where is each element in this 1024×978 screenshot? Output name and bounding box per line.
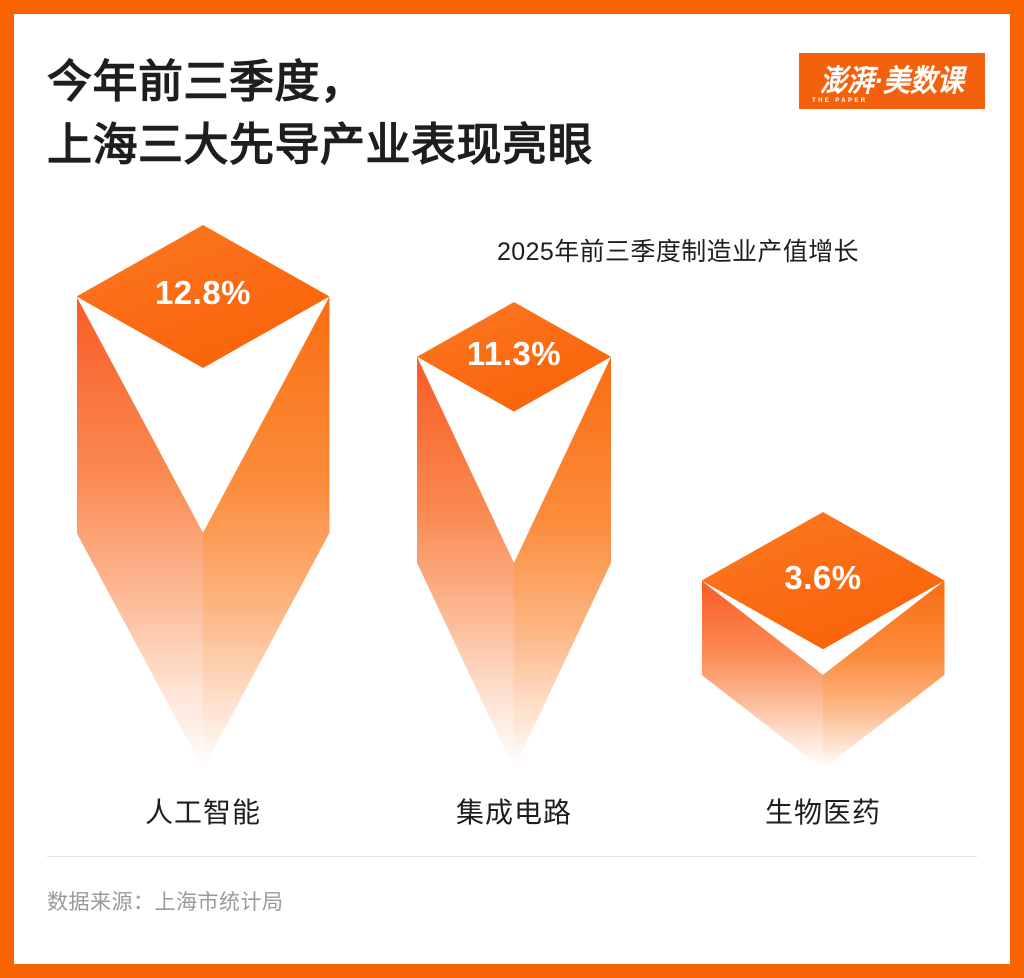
category-label-1: 集成电路 [364,791,664,831]
page-title: 今年前三季度， 上海三大先导产业表现亮眼 [47,50,767,176]
category-label-2: 生物医药 [673,791,973,831]
poster-frame: 今年前三季度， 上海三大先导产业表现亮眼 澎湃·美数课 THE PAPER 20… [0,0,1024,978]
header: 今年前三季度， 上海三大先导产业表现亮眼 澎湃·美数课 THE PAPER [14,14,1010,204]
bar-column[interactable]: 12.8% [77,225,330,769]
bar-right-face [514,357,611,769]
bar-left-face [417,357,514,769]
bar-top-face [417,302,611,412]
data-source-text: 数据来源：上海市统计局 [47,886,284,916]
brand-logo-text: 澎湃·美数课 [820,66,964,96]
category-label-0: 人工智能 [53,791,353,831]
bar-column[interactable]: 11.3% [417,302,611,769]
footer: 数据来源：上海市统计局 [14,844,1010,964]
chart-subtitle: 2025年前三季度制造业产值增长 [497,232,859,268]
brand-logo: 澎湃·美数课 THE PAPER [799,53,985,109]
bar-left-face [77,296,204,769]
bar-chart: 2025年前三季度制造业产值增长 12.8% 11.3% 3.6% [14,204,1010,844]
poster-canvas: 今年前三季度， 上海三大先导产业表现亮眼 澎湃·美数课 THE PAPER 20… [14,14,1010,964]
brand-logo-subtext: THE PAPER [812,98,868,104]
bar-column[interactable]: 3.6% [702,512,945,769]
footer-divider [47,856,977,857]
bar-top-face [77,225,330,368]
bar-right-face [203,296,330,769]
